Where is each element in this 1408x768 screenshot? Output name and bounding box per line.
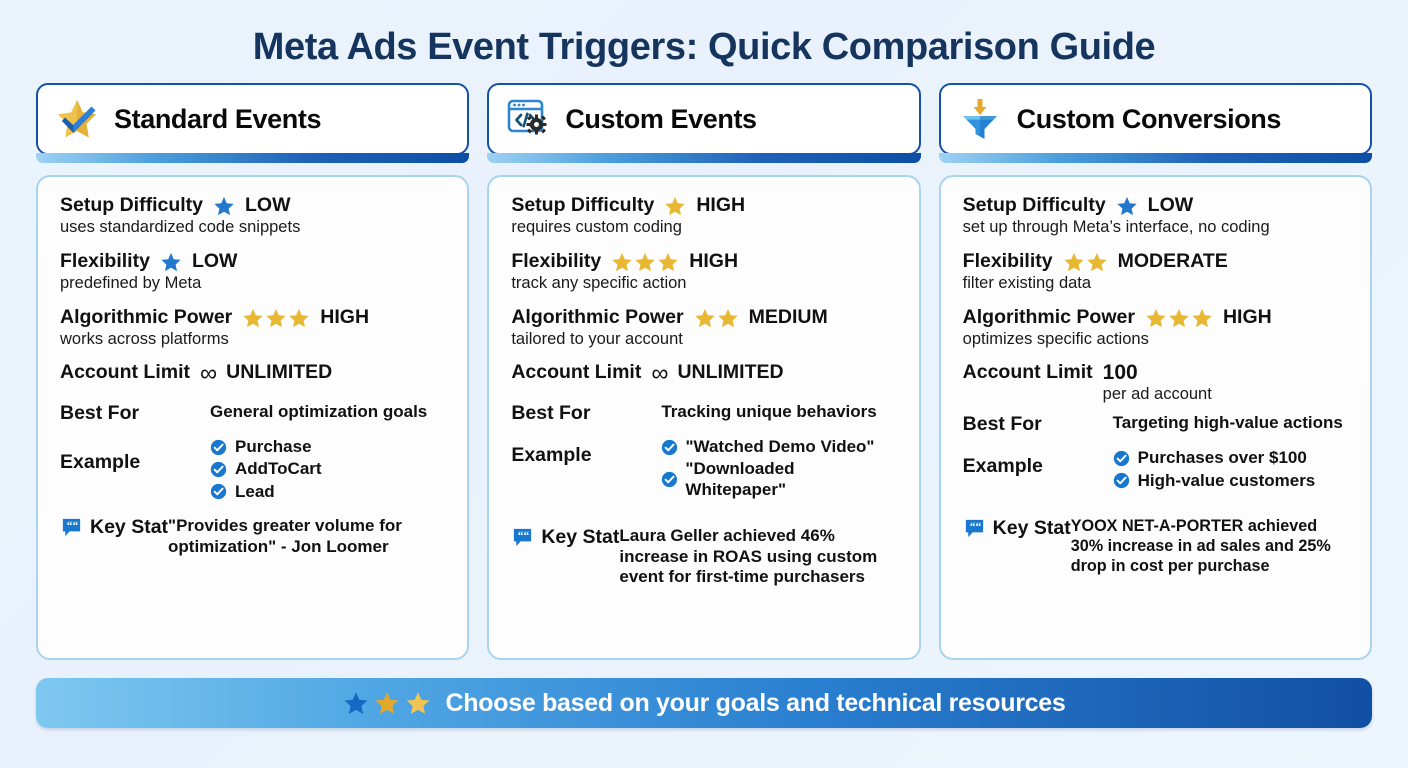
svg-text:“: “ <box>524 530 530 542</box>
star-check-icon <box>54 96 100 142</box>
rating-sub: tailored to your account <box>511 330 898 350</box>
best-for-row: Best For Targeting high-value actions <box>963 413 1350 436</box>
rating-label: Algorithmic Power <box>60 307 232 328</box>
best-for-value: General optimization goals <box>210 402 427 423</box>
rating-value: HIGH <box>320 307 369 328</box>
best-for-label: Best For <box>511 402 661 425</box>
card-header-label: Custom Events <box>565 104 756 135</box>
rating-row-algorithmic-power: Algorithmic Power MEDIUM tailored to you… <box>511 307 898 350</box>
rating-label: Flexibility <box>511 251 601 272</box>
rating-label: Algorithmic Power <box>963 307 1135 328</box>
page-title: Meta Ads Event Triggers: Quick Compariso… <box>0 0 1408 83</box>
infinity-icon: ∞ <box>651 364 667 383</box>
check-circle-icon <box>1113 450 1130 467</box>
rating-sub: requires custom coding <box>511 218 898 238</box>
rating-row-algorithmic-power: Algorithmic Power HIGH works across plat… <box>60 307 447 350</box>
example-label: Example <box>511 437 660 467</box>
rating-sub: works across platforms <box>60 330 447 350</box>
key-stat-value: "Provides greater volume for optimizatio… <box>168 516 447 557</box>
list-item-label: "Downloaded Whitepaper" <box>685 459 898 500</box>
quote-bubble-icon: “ “ <box>60 516 83 539</box>
rating-label: Setup Difficulty <box>60 195 203 216</box>
quote-bubble-icon: “ “ <box>511 526 534 549</box>
example-label: Example <box>963 448 1113 478</box>
rating-row-setup-difficulty: Setup Difficulty LOW uses standardized c… <box>60 195 447 238</box>
rating-stars <box>694 307 739 329</box>
rating-label: Algorithmic Power <box>511 307 683 328</box>
best-for-label: Best For <box>60 402 210 425</box>
rating-stars <box>1116 195 1138 217</box>
list-item: Purchase <box>210 437 322 457</box>
rating-value: LOW <box>192 251 237 272</box>
rating-value: HIGH <box>1223 307 1272 328</box>
card-body-standard-events: Setup Difficulty LOW uses standardized c… <box>36 175 469 660</box>
rating-sub: optimizes specific actions <box>963 330 1350 350</box>
rating-row-setup-difficulty: Setup Difficulty LOW set up through Meta… <box>963 195 1350 238</box>
rating-row-account-limit: Account Limit ∞ UNLIMITED <box>60 362 447 383</box>
account-limit-label: Account Limit <box>511 362 641 383</box>
account-limit-sub: per ad account <box>1103 385 1212 405</box>
account-limit-value: UNLIMITED <box>226 362 332 383</box>
rating-label: Flexibility <box>963 251 1053 272</box>
rating-value: MODERATE <box>1118 251 1228 272</box>
key-stat-label: Key Stat <box>541 526 619 549</box>
star-icon <box>343 690 369 716</box>
card-header-label: Standard Events <box>114 104 321 135</box>
rating-sub: track any specific action <box>511 274 898 294</box>
rating-value: HIGH <box>689 251 738 272</box>
example-list: Purchases over $100 High-value customers <box>1113 448 1316 491</box>
account-limit-label: Account Limit <box>963 362 1093 383</box>
example-row: Example Purchase AddToCart Lead <box>60 437 447 502</box>
check-circle-icon <box>210 461 227 478</box>
example-list: Purchase AddToCart Lead <box>210 437 322 502</box>
rating-stars <box>611 251 679 273</box>
list-item-label: Purchases over $100 <box>1138 448 1307 468</box>
card-header-label: Custom Conversions <box>1017 104 1281 135</box>
rating-row-account-limit: Account Limit ∞ UNLIMITED <box>511 362 898 383</box>
rating-stars <box>242 307 310 329</box>
rating-value: HIGH <box>696 195 745 216</box>
list-item-label: High-value customers <box>1138 471 1316 491</box>
key-stat-label: Key Stat <box>993 517 1071 540</box>
check-circle-icon <box>661 439 678 456</box>
rating-sub: set up through Meta’s interface, no codi… <box>963 218 1350 238</box>
key-stat-row: “ “ Key Stat YOOX NET-A-PORTER achieved … <box>963 517 1350 576</box>
account-limit-value: 100 <box>1103 362 1212 384</box>
rating-value: LOW <box>1148 195 1193 216</box>
footer-banner: Choose based on your goals and technical… <box>36 678 1372 728</box>
card-header-custom-events[interactable]: Custom Events <box>487 83 920 155</box>
infinity-icon: ∞ <box>200 364 216 383</box>
rating-row-setup-difficulty: Setup Difficulty HIGH requires custom co… <box>511 195 898 238</box>
quote-bubble-icon: “ “ <box>963 517 986 540</box>
list-item-label: Lead <box>235 482 275 502</box>
check-circle-icon <box>1113 472 1130 489</box>
comparison-columns: Standard Events Setup Difficulty LOW use… <box>0 83 1408 660</box>
best-for-row: Best For Tracking unique behaviors <box>511 402 898 425</box>
rating-label: Setup Difficulty <box>511 195 654 216</box>
best-for-value: Targeting high-value actions <box>1113 413 1343 434</box>
rating-stars <box>160 251 182 273</box>
best-for-value: Tracking unique behaviors <box>661 402 876 423</box>
rating-stars <box>213 195 235 217</box>
rating-label: Setup Difficulty <box>963 195 1106 216</box>
example-list: "Watched Demo Video" "Downloaded Whitepa… <box>661 437 899 500</box>
rating-row-algorithmic-power: Algorithmic Power HIGH optimizes specifi… <box>963 307 1350 350</box>
key-stat-row: “ “ Key Stat "Provides greater volume fo… <box>60 516 447 557</box>
account-limit-value: UNLIMITED <box>677 362 783 383</box>
footer-text: Choose based on your goals and technical… <box>446 689 1066 718</box>
rating-label: Flexibility <box>60 251 150 272</box>
rating-stars <box>664 195 686 217</box>
list-item: High-value customers <box>1113 471 1316 491</box>
rating-sub: uses standardized code snippets <box>60 218 447 238</box>
list-item-label: AddToCart <box>235 459 322 479</box>
list-item-label: "Watched Demo Video" <box>686 437 875 457</box>
rating-sub: predefined by Meta <box>60 274 447 294</box>
check-circle-icon <box>661 471 678 488</box>
list-item: Lead <box>210 482 322 502</box>
card-body-custom-events: Setup Difficulty HIGH requires custom co… <box>487 175 920 660</box>
key-stat-value: Laura Geller achieved 46% increase in RO… <box>619 526 898 588</box>
column-custom-conversions: Custom Conversions Setup Difficulty LOW … <box>939 83 1372 660</box>
infographic-page: Meta Ads Event Triggers: Quick Compariso… <box>0 0 1408 768</box>
check-circle-icon <box>210 483 227 500</box>
best-for-label: Best For <box>963 413 1113 436</box>
column-standard-events: Standard Events Setup Difficulty LOW use… <box>36 83 469 660</box>
card-header-standard-events[interactable]: Standard Events <box>36 83 469 155</box>
code-window-gear-icon <box>505 96 551 142</box>
rating-sub: filter existing data <box>963 274 1350 294</box>
funnel-arrow-icon <box>957 96 1003 142</box>
example-row: Example Purchases over $100 High-value c… <box>963 448 1350 491</box>
check-circle-icon <box>210 439 227 456</box>
rating-row-flexibility: Flexibility LOW predefined by Meta <box>60 251 447 294</box>
list-item: Purchases over $100 <box>1113 448 1316 468</box>
star-icon <box>374 690 400 716</box>
svg-text:“: “ <box>975 521 981 533</box>
rating-stars <box>1063 251 1108 273</box>
list-item: AddToCart <box>210 459 322 479</box>
rating-row-flexibility: Flexibility MODERATE filter existing dat… <box>963 251 1350 294</box>
key-stat-row: “ “ Key Stat Laura Geller achieved 46% i… <box>511 526 898 588</box>
list-item-label: Purchase <box>235 437 312 457</box>
list-item: "Watched Demo Video" <box>661 437 899 457</box>
list-item: "Downloaded Whitepaper" <box>661 459 899 500</box>
star-icon <box>405 690 431 716</box>
column-custom-events: Custom Events Setup Difficulty HIGH requ… <box>487 83 920 660</box>
key-stat-label: Key Stat <box>90 516 168 539</box>
card-header-custom-conversions[interactable]: Custom Conversions <box>939 83 1372 155</box>
example-row: Example "Watched Demo Video" "Downloaded… <box>511 437 898 500</box>
best-for-row: Best For General optimization goals <box>60 402 447 425</box>
account-limit-label: Account Limit <box>60 362 190 383</box>
rating-row-flexibility: Flexibility HIGH track any specific acti… <box>511 251 898 294</box>
example-label: Example <box>60 437 210 474</box>
rating-row-account-limit: Account Limit 100 per ad account <box>963 362 1350 405</box>
key-stat-value: YOOX NET-A-PORTER achieved 30% increase … <box>1071 517 1350 576</box>
svg-text:“: “ <box>72 520 78 532</box>
card-body-custom-conversions: Setup Difficulty LOW set up through Meta… <box>939 175 1372 660</box>
rating-value: MEDIUM <box>749 307 828 328</box>
rating-stars <box>1145 307 1213 329</box>
rating-value: LOW <box>245 195 290 216</box>
